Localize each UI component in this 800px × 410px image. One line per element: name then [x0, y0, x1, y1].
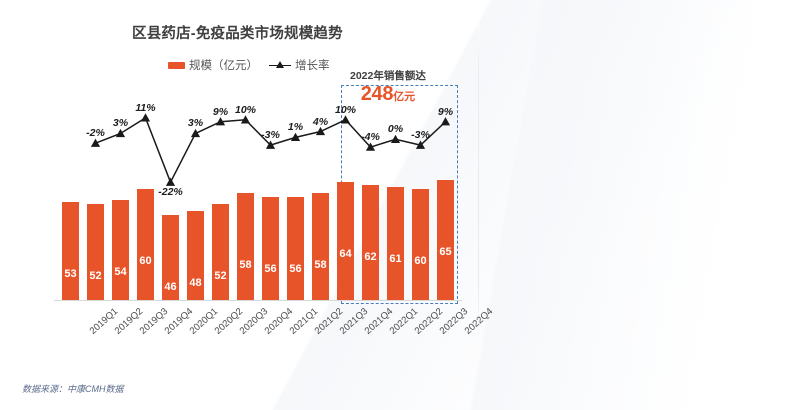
bar-value-label: 54: [114, 266, 126, 278]
bar-value-label: 58: [239, 259, 251, 271]
bar-value-label: 53: [64, 268, 76, 280]
x-axis-line: [54, 300, 462, 301]
bar-2019Q2[interactable]: 52: [87, 204, 104, 300]
growth-value-label-2022Q3: -3%: [411, 129, 430, 141]
growth-value-label-2021Q1: -3%: [261, 129, 280, 141]
source-note: 数据来源：中康CMH数据: [22, 382, 124, 395]
bar-2022Q1[interactable]: 62: [362, 185, 379, 300]
growth-value-label-2020Q4: 10%: [235, 104, 256, 116]
bar-2021Q4[interactable]: 64: [337, 182, 354, 300]
growth-value-label-2020Q1: -22%: [158, 186, 183, 198]
growth-value-label-2022Q2: 0%: [388, 123, 403, 135]
left-chart-title: 区县药店-免疫品类市场规模趋势: [132, 22, 343, 43]
bar-value-label: 61: [389, 253, 401, 265]
bar-value-label: 56: [289, 263, 301, 275]
legend-label-scale: 规模（亿元）: [189, 57, 258, 73]
left-chart-panel: 区县药店-免疫品类市场规模趋势 规模（亿元） 增长率 2022年销售额达 248…: [0, 0, 478, 410]
bar-value-label: 62: [364, 251, 376, 263]
bar-value-label: 60: [414, 255, 426, 267]
left-chart-legend: 规模（亿元） 增长率: [168, 57, 330, 73]
bar-value-label: 52: [214, 270, 226, 282]
bar-2022Q2[interactable]: 61: [387, 187, 404, 300]
bar-2021Q3[interactable]: 58: [312, 193, 329, 300]
bar-2020Q1[interactable]: 46: [162, 215, 179, 300]
annotation-caption: 2022年销售额达: [350, 68, 426, 83]
growth-value-label-2020Q3: 9%: [213, 106, 228, 118]
growth-value-label-2019Q2: -2%: [86, 127, 105, 139]
bar-value-label: 64: [339, 248, 351, 260]
bar-value-label: 56: [264, 263, 276, 275]
slide-canvas: 区县药店-免疫品类市场规模趋势 规模（亿元） 增长率 2022年销售额达 248…: [0, 0, 800, 410]
line-triangle-marker-icon: [269, 61, 291, 70]
bar-2019Q4[interactable]: 60: [137, 189, 154, 300]
bar-value-label: 60: [139, 255, 151, 267]
bar-swatch-icon: [168, 62, 185, 69]
x-axis-labels: 2019Q12019Q22019Q32019Q42020Q12020Q22020…: [0, 302, 478, 362]
bar-2019Q1[interactable]: 53: [62, 202, 79, 300]
bar-value-label: 48: [189, 277, 201, 289]
bar-2022Q3[interactable]: 60: [412, 189, 429, 300]
growth-value-label-2021Q4: 10%: [335, 104, 356, 116]
legend-item-scale[interactable]: 规模（亿元）: [168, 57, 258, 73]
bar-value-label: 65: [439, 246, 451, 258]
bar-2020Q3[interactable]: 52: [212, 204, 229, 300]
x-label-2019Q1: 2019Q1: [87, 306, 119, 337]
growth-value-label-2021Q2: 1%: [288, 121, 303, 133]
bar-value-label: 46: [164, 281, 176, 293]
growth-value-label-2021Q3: 4%: [313, 116, 328, 128]
bar-2020Q2[interactable]: 48: [187, 211, 204, 300]
bar-2019Q3[interactable]: 54: [112, 200, 129, 300]
bar-2022Q4[interactable]: 65: [437, 180, 454, 300]
growth-value-label-2019Q4: 11%: [135, 102, 155, 114]
bar-2021Q1[interactable]: 56: [262, 197, 279, 300]
bar-value-label: 58: [314, 259, 326, 271]
growth-value-label-2020Q2: 3%: [188, 117, 203, 129]
legend-item-growth[interactable]: 增长率: [269, 57, 330, 73]
growth-value-label-2022Q4: 9%: [438, 106, 453, 118]
bar-2021Q2[interactable]: 56: [287, 197, 304, 300]
bar-2020Q4[interactable]: 58: [237, 193, 254, 300]
bar-value-label: 52: [89, 270, 101, 282]
legend-label-growth: 增长率: [295, 57, 330, 73]
growth-value-label-2022Q1: -4%: [361, 131, 380, 143]
right-chart-panel: 区县药店-2022年细分免疫品类规模 西式维矿中式滋补消化吸收健康睡眠健康保肝护…: [478, 0, 800, 410]
growth-value-label-2019Q3: 3%: [113, 117, 128, 129]
